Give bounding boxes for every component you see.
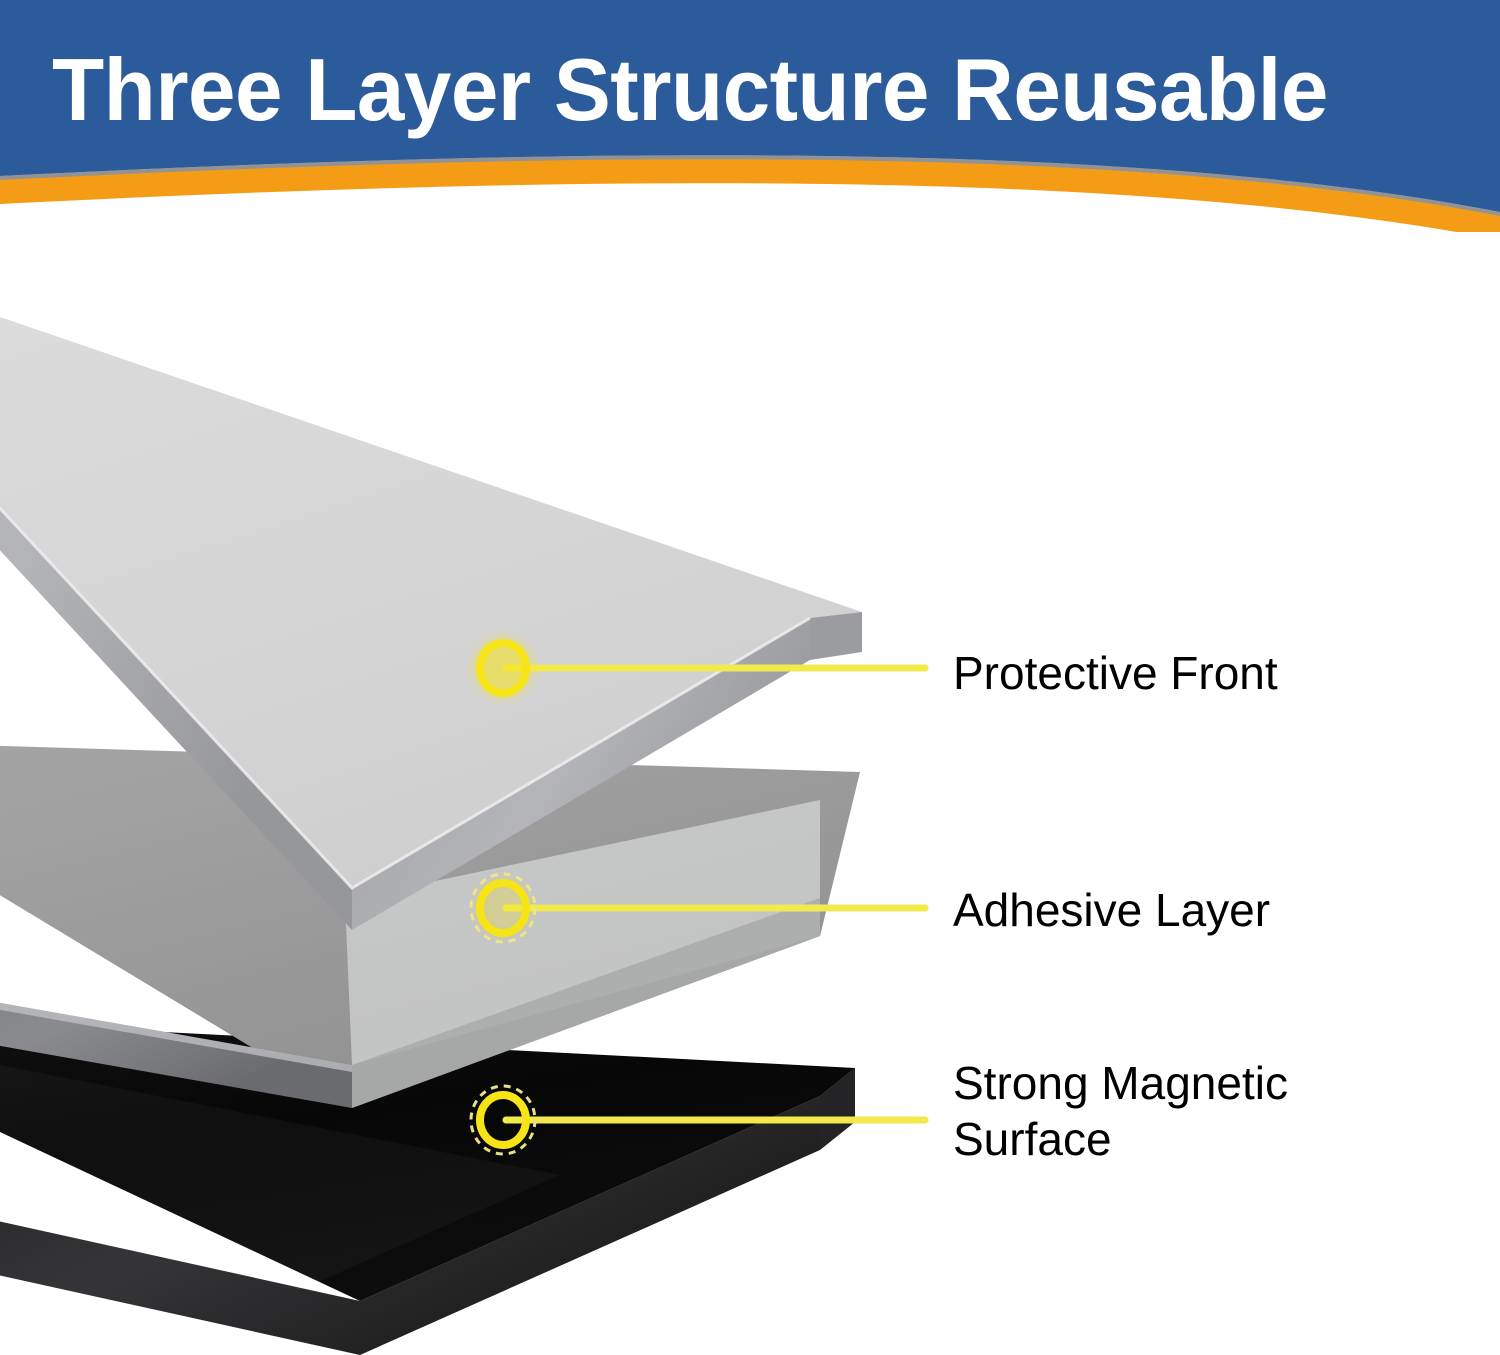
page-title: Three Layer Structure Reusable — [52, 44, 1429, 136]
callout-label-protective-front: Protective Front — [953, 645, 1278, 701]
product-infographic: Three Layer Structure Reusable — [0, 0, 1500, 1355]
callout-label-adhesive-layer: Adhesive Layer — [953, 882, 1270, 938]
callout-marker-protective-front[interactable] — [465, 630, 541, 706]
callout-marker-adhesive-layer[interactable] — [467, 872, 539, 944]
layer-stack-diagram: Protective Front Adhesive Layer Strong M… — [0, 0, 1500, 1355]
protective-layer-corner-cap — [810, 612, 862, 660]
callout-label-magnetic-surface: Strong Magnetic Surface — [953, 1055, 1288, 1167]
